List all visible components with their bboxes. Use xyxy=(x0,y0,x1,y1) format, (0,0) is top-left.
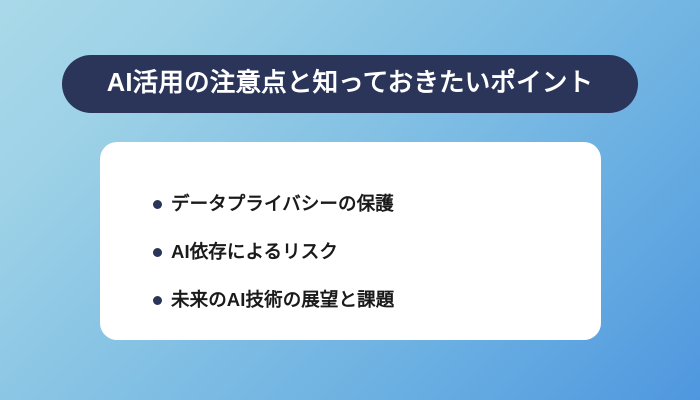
bullet-dot-icon xyxy=(153,248,162,257)
bullet-item-label: データプライバシーの保護 xyxy=(171,194,394,214)
list-item: 未来のAI技術の展望と課題 xyxy=(153,276,601,324)
page-title: AI活用の注意点と知っておきたいポイント xyxy=(107,71,593,97)
list-item: データプライバシーの保護 xyxy=(153,180,601,228)
bullet-content-card: データプライバシーの保護 AI依存によるリスク 未来のAI技術の展望と課題 xyxy=(100,142,601,340)
slide-canvas: AI活用の注意点と知っておきたいポイント データプライバシーの保護 AI依存によ… xyxy=(0,0,700,400)
slide-title-pill: AI活用の注意点と知っておきたいポイント xyxy=(62,55,638,113)
list-item: AI依存によるリスク xyxy=(153,228,601,276)
bullet-list: データプライバシーの保護 AI依存によるリスク 未来のAI技術の展望と課題 xyxy=(153,180,601,324)
bullet-item-label: 未来のAI技術の展望と課題 xyxy=(171,290,394,310)
bullet-dot-icon xyxy=(153,200,162,209)
bullet-item-label: AI依存によるリスク xyxy=(171,242,338,262)
bullet-dot-icon xyxy=(153,296,162,305)
